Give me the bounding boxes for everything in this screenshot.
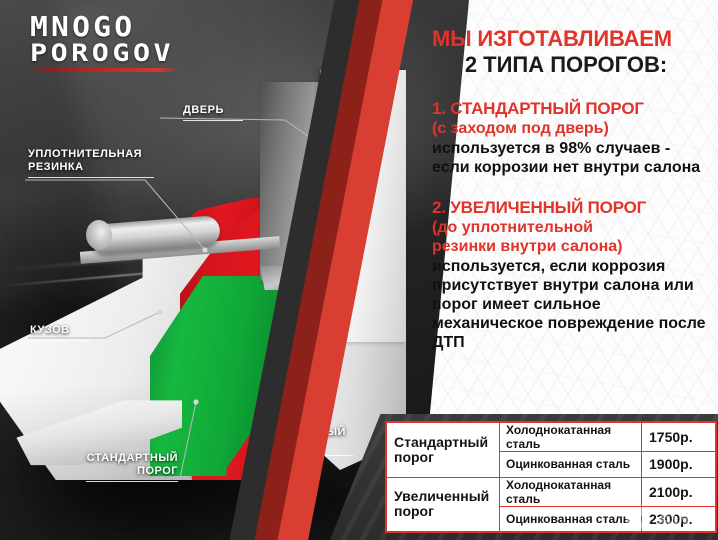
label-door-text: ДВЕРЬ xyxy=(183,104,243,117)
info-block-extended-body: используется, если коррозия присутствует… xyxy=(432,257,710,352)
info-block-standard-title: 1. СТАНДАРТНЫЙ ПОРОГ xyxy=(432,98,710,119)
panel-heading: МЫ ИЗГОТАВЛИВАЕМ 2 ТИПА ПОРОГОВ: xyxy=(432,26,710,78)
price-row: Холоднокатанная сталь 2100р. xyxy=(499,478,715,507)
price-row: Оцинкованная сталь 2300р. xyxy=(499,507,715,532)
label-standard-sill-underline xyxy=(86,481,178,482)
label-rubber-seal-line2: РЕЗИНКА xyxy=(28,161,154,174)
price-group-name: Стандартный порог xyxy=(387,423,499,478)
panel-heading-red: МЫ ИЗГОТАВЛИВАЕМ xyxy=(432,26,710,52)
info-block-extended-subtitle-line1: (до уплотнительной xyxy=(432,218,710,237)
brand-logo-line1: MNOGO xyxy=(30,14,242,41)
label-body-underline xyxy=(30,340,90,341)
info-block-standard-subtitle: (с заходом под дверь) xyxy=(432,119,710,138)
price-row: Холоднокатанная сталь 1750р. xyxy=(499,423,715,452)
price-group-name: Увеличенный порог xyxy=(387,478,499,532)
brand-logo-swoosh xyxy=(28,68,182,72)
info-panel-content: МЫ ИЗГОТАВЛИВАЕМ 2 ТИПА ПОРОГОВ: 1. СТАН… xyxy=(432,0,710,352)
label-rubber-seal-line1: УПЛОТНИТЕЛЬНАЯ xyxy=(28,148,154,161)
price-row-value: 2300р. xyxy=(642,507,715,532)
label-standard-sill-line2: ПОРОГ xyxy=(86,465,178,478)
brand-logo[interactable]: MNOGO POROGOV xyxy=(30,14,230,72)
info-block-standard-body: используется в 98% случаев - если корроз… xyxy=(432,139,710,177)
price-table-name-column: Стандартный порог Увеличенный порог xyxy=(387,423,499,531)
price-row-material: Холоднокатанная сталь xyxy=(499,478,642,506)
info-block-extended-title: 2. УВЕЛИЧЕННЫЙ ПОРОГ xyxy=(432,197,710,218)
info-block-extended: 2. УВЕЛИЧЕННЫЙ ПОРОГ (до уплотнительной … xyxy=(432,197,710,352)
label-door: ДВЕРЬ xyxy=(183,104,243,121)
panel-heading-black: 2 ТИПА ПОРОГОВ: xyxy=(432,52,710,78)
price-table: Стандартный порог Увеличенный порог Холо… xyxy=(385,421,717,533)
label-body-text: КУЗОВ xyxy=(30,324,90,337)
label-rubber-seal: УПЛОТНИТЕЛЬНАЯ РЕЗИНКА xyxy=(28,148,154,178)
info-block-standard: 1. СТАНДАРТНЫЙ ПОРОГ (с заходом под двер… xyxy=(432,98,710,177)
price-row-material: Оцинкованная сталь xyxy=(499,452,642,477)
brand-logo-line2: POROGOV xyxy=(30,42,266,65)
price-row-value: 1750р. xyxy=(642,423,715,451)
label-standard-sill-line1: СТАНДАРТНЫЙ xyxy=(86,452,178,465)
label-body: КУЗОВ xyxy=(30,324,90,341)
price-row-material: Оцинкованная сталь xyxy=(499,507,642,532)
price-row-value: 2100р. xyxy=(642,478,715,506)
price-table-rows: Холоднокатанная сталь 1750р. Оцинкованна… xyxy=(499,423,715,531)
price-row-material: Холоднокатанная сталь xyxy=(499,423,642,451)
label-standard-sill: СТАНДАРТНЫЙ ПОРОГ xyxy=(86,452,178,482)
price-row: Оцинкованная сталь 1900р. xyxy=(499,452,715,478)
info-block-extended-subtitle-line2: резинки внутри салона) xyxy=(432,237,710,256)
price-row-value: 1900р. xyxy=(642,452,715,477)
label-door-underline xyxy=(183,120,243,121)
label-rubber-seal-underline xyxy=(28,177,154,178)
advertisement-banner: ДВЕРЬ УПЛОТНИТЕЛЬНАЯ РЕЗИНКА КУЗОВ СТАНД… xyxy=(0,0,718,540)
